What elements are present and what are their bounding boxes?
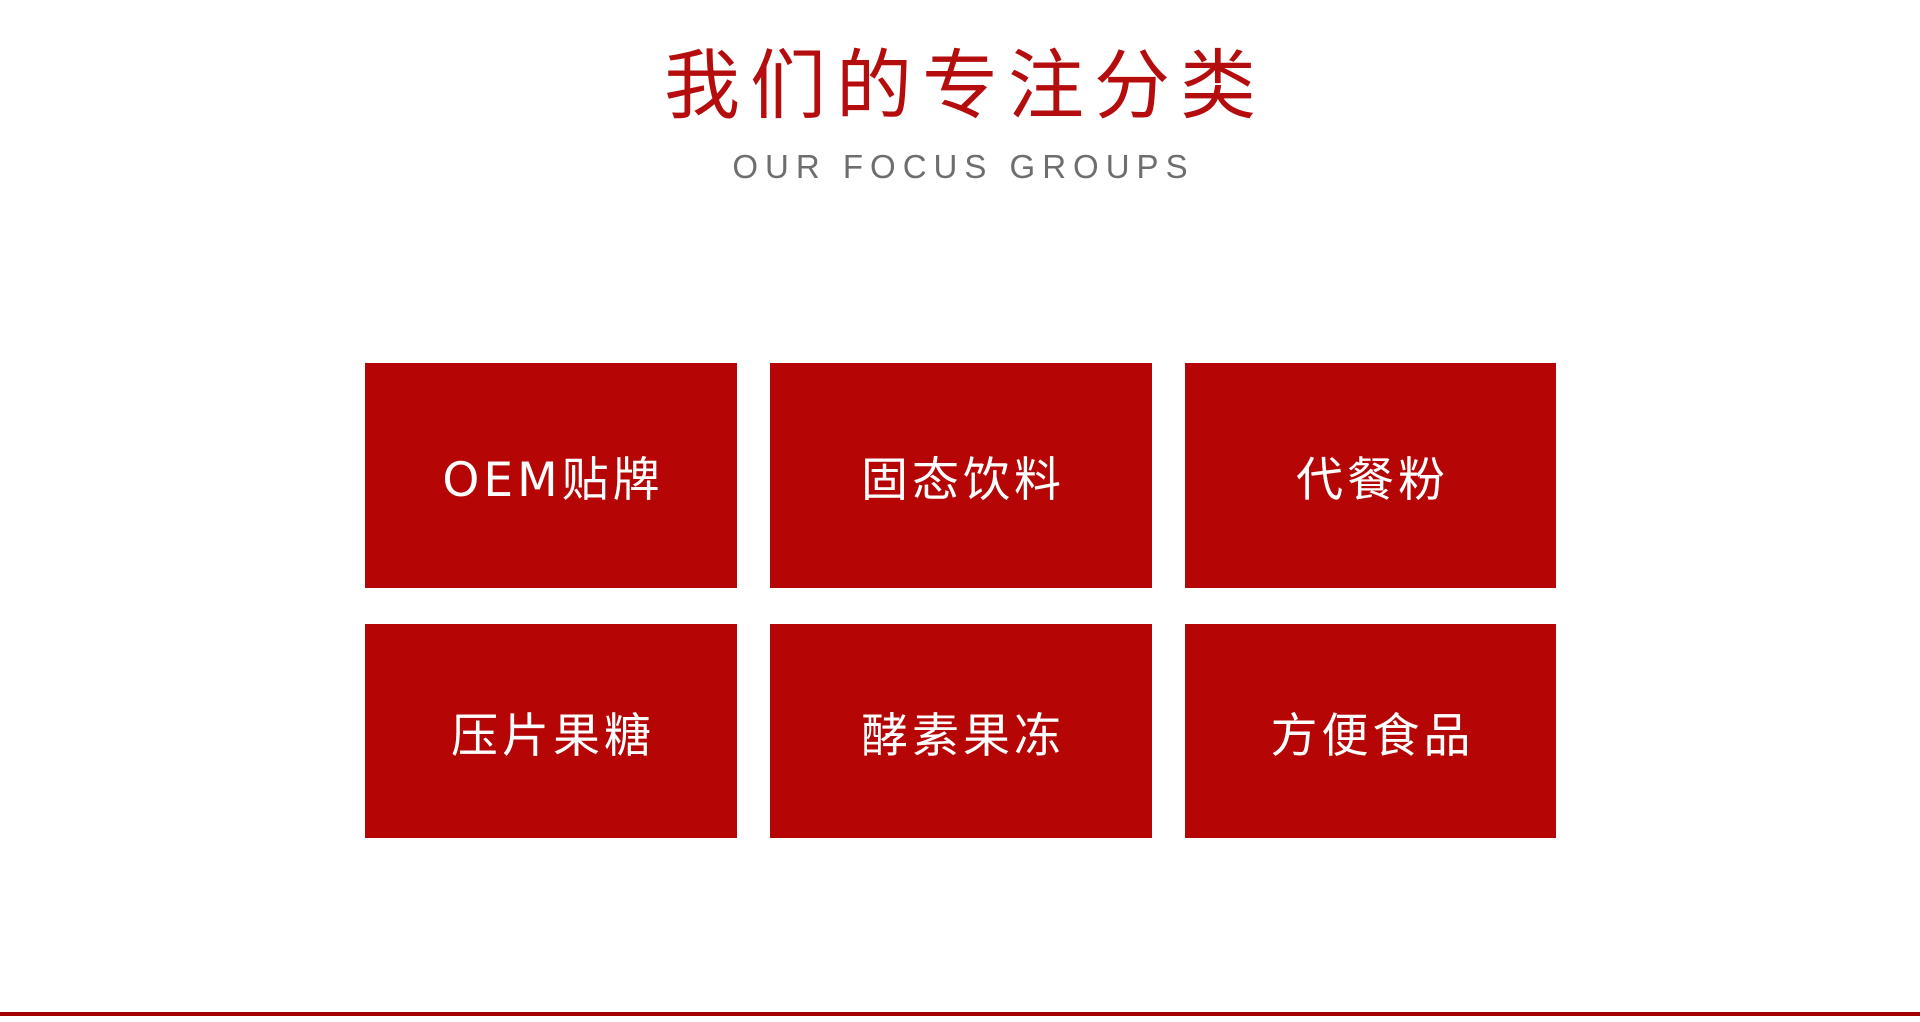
tile-label: OEM贴牌 (438, 441, 663, 510)
focus-group-tile-pressed-tablet-fructose[interactable]: 压片果糖 (365, 624, 737, 838)
focus-group-tile-convenience-food[interactable]: 方便食品 (1185, 624, 1556, 838)
slide-header: 我们的专注分类 OUR FOCUS GROUPS (0, 0, 1920, 183)
focus-group-tile-enzyme-jelly[interactable]: 酵素果冻 (770, 624, 1152, 838)
tile-label: 代餐粉 (1292, 441, 1449, 510)
tile-label: 固态饮料 (857, 441, 1065, 510)
slide-canvas: 我们的专注分类 OUR FOCUS GROUPS OEM贴牌 固态饮料 代餐粉 … (0, 0, 1920, 1022)
focus-group-tile-solid-beverage[interactable]: 固态饮料 (770, 363, 1152, 588)
focus-group-tile-grid: OEM贴牌 固态饮料 代餐粉 压片果糖 酵素果冻 方便食品 (365, 363, 1556, 838)
bottom-divider-rule (0, 1012, 1920, 1016)
tile-label: 压片果糖 (447, 697, 655, 766)
page-title: 我们的专注分类 (0, 0, 1920, 124)
page-subtitle: OUR FOCUS GROUPS (0, 124, 1920, 183)
focus-group-tile-oem[interactable]: OEM贴牌 (365, 363, 737, 588)
tile-label: 酵素果冻 (857, 697, 1065, 766)
focus-group-tile-meal-replacement-powder[interactable]: 代餐粉 (1185, 363, 1556, 588)
tile-label: 方便食品 (1267, 697, 1475, 766)
